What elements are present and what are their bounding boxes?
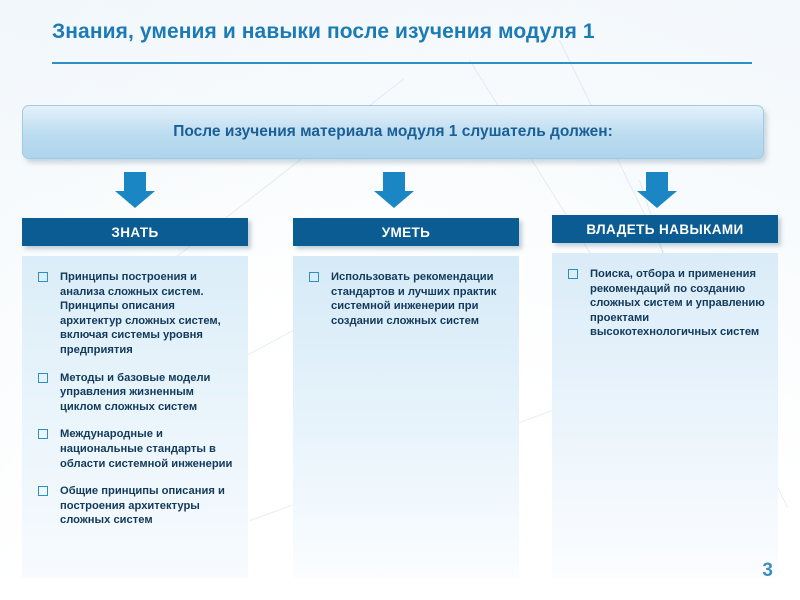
column-body-know: Принципы построения и анализа сложных си…: [22, 256, 248, 578]
intro-banner-text: После изучения материала модуля 1 слушат…: [173, 123, 613, 141]
column-body-skills: Поиска, отбора и применения рекомендаций…: [552, 253, 778, 578]
title-divider: [52, 62, 752, 64]
checkbox-bullet-icon: [38, 429, 48, 439]
column-heading-know-label: ЗНАТЬ: [111, 225, 158, 240]
list-item-text: Общие принципы описания и построения арх…: [60, 485, 225, 526]
column-heading-skills-label: ВЛАДЕТЬ НАВЫКАМИ: [586, 222, 743, 237]
column-heading-be-able: УМЕТЬ: [293, 218, 519, 246]
list-item: Использовать рекомендации стандартов и л…: [301, 270, 509, 328]
list-know: Принципы построения и анализа сложных си…: [22, 256, 248, 528]
list-be-able: Использовать рекомендации стандартов и л…: [293, 256, 519, 328]
column-heading-be-able-label: УМЕТЬ: [382, 225, 431, 240]
page-title: Знания, умения и навыки после изучения м…: [52, 20, 595, 44]
list-item: Принципы построения и анализа сложных си…: [30, 270, 238, 358]
list-item: Методы и базовые модели управления жизне…: [30, 371, 238, 415]
list-item-text: Поиска, отбора и применения рекомендаций…: [590, 268, 765, 338]
checkbox-bullet-icon: [568, 269, 578, 279]
column-body-be-able: Использовать рекомендации стандартов и л…: [293, 256, 519, 578]
checkbox-bullet-icon: [38, 486, 48, 496]
checkbox-bullet-icon: [38, 373, 48, 383]
checkbox-bullet-icon: [309, 272, 319, 282]
checkbox-bullet-icon: [38, 272, 48, 282]
list-item-text: Международные и национальные стандарты в…: [60, 428, 232, 469]
list-item: Общие принципы описания и построения арх…: [30, 484, 238, 528]
list-item-text: Использовать рекомендации стандартов и л…: [331, 271, 496, 327]
column-heading-skills: ВЛАДЕТЬ НАВЫКАМИ: [552, 215, 778, 243]
list-skills: Поиска, отбора и применения рекомендаций…: [552, 253, 778, 340]
arrow-down-icon-skills: [637, 172, 677, 208]
column-heading-know: ЗНАТЬ: [22, 218, 248, 246]
page-number: 3: [762, 560, 773, 582]
slide: Знания, умения и навыки после изучения м…: [0, 0, 800, 600]
arrow-down-icon-know: [115, 172, 155, 208]
list-item-text: Методы и базовые модели управления жизне…: [60, 372, 210, 413]
list-item-text: Принципы построения и анализа сложных си…: [60, 271, 221, 356]
list-item: Международные и национальные стандарты в…: [30, 427, 238, 471]
list-item: Поиска, отбора и применения рекомендаций…: [560, 267, 768, 340]
arrow-down-icon-be-able: [374, 172, 414, 208]
intro-banner: После изучения материала модуля 1 слушат…: [22, 105, 764, 159]
